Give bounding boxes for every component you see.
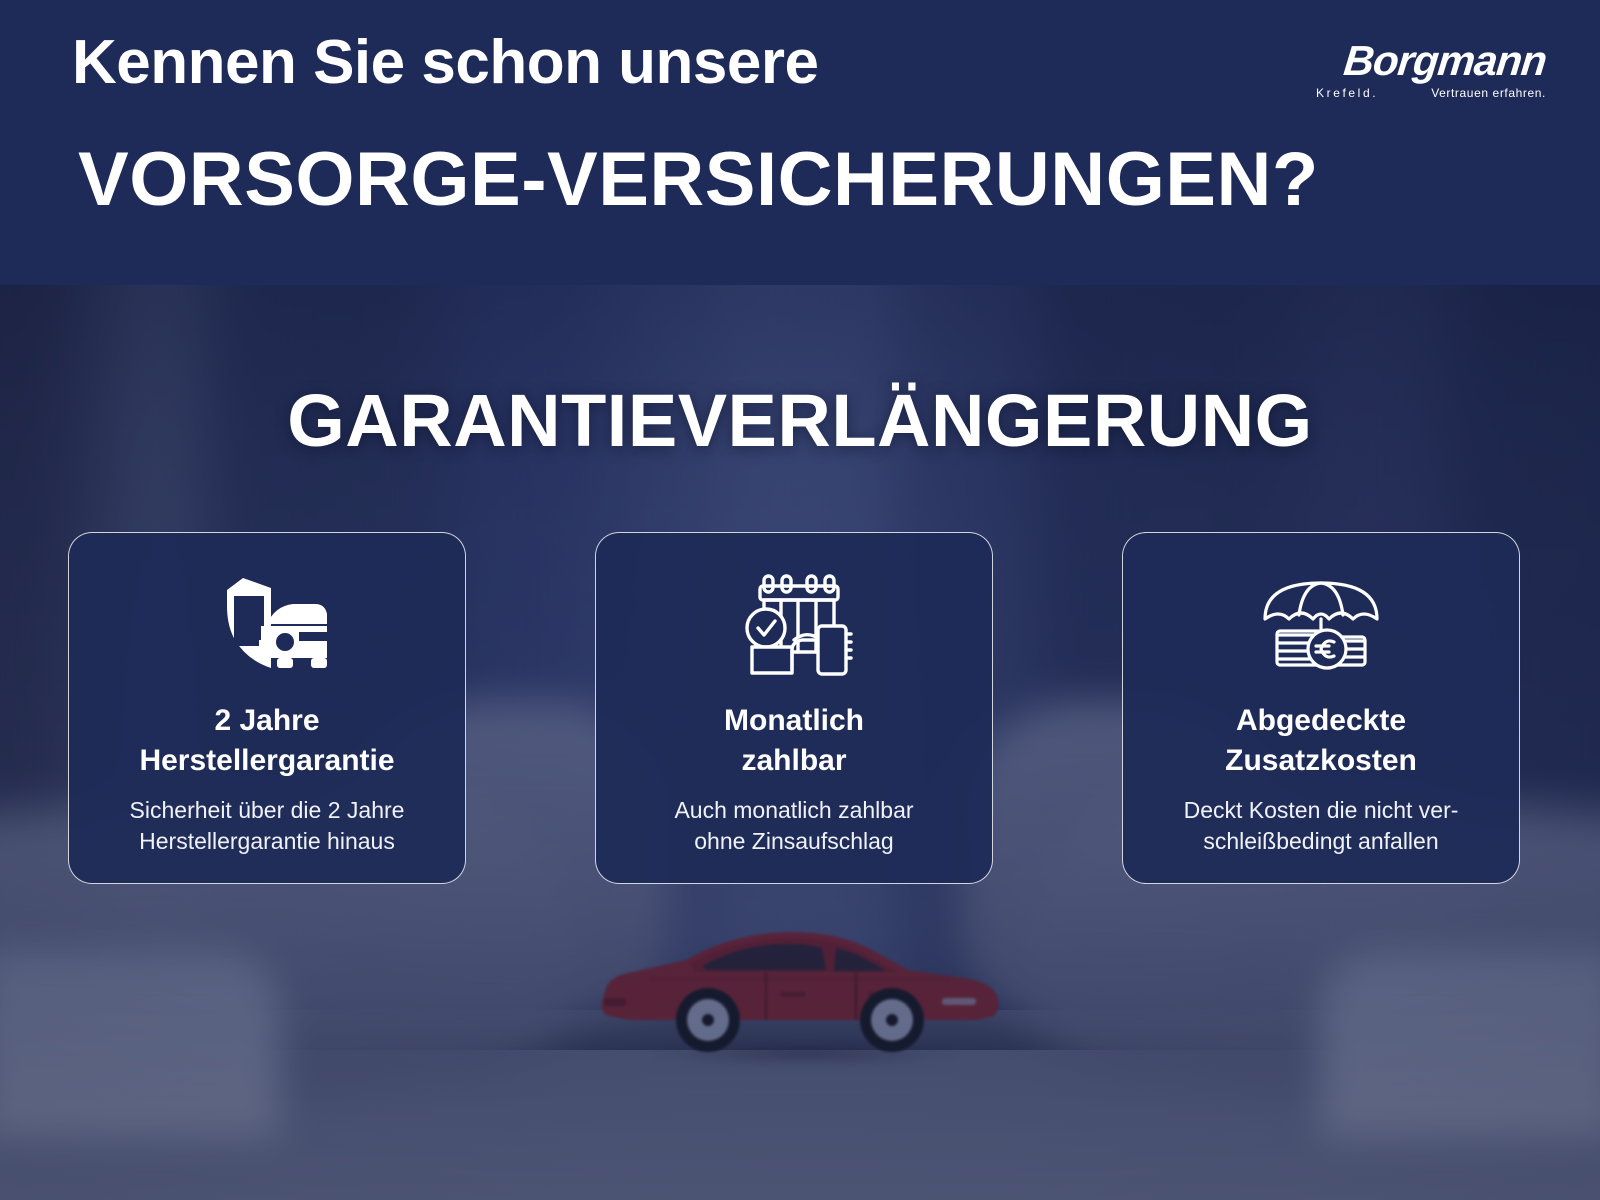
feature-card-zusatzkosten[interactable]: Abgedeckte Zusatzkosten Deckt Kosten die…: [1122, 532, 1520, 884]
header-band: Kennen Sie schon unsere VORSORGE-VERSICH…: [0, 0, 1600, 285]
umbrella-euro-coins-icon: [1259, 567, 1383, 685]
shield-car-icon: [203, 567, 331, 685]
feature-card-title: 2 Jahre Herstellergarantie: [139, 701, 394, 781]
header-line-1: Kennen Sie schon unsere: [72, 30, 819, 95]
brand-logo[interactable]: Borgmann Krefeld. Vertrauen erfahren.: [1310, 40, 1546, 106]
insurance-promo-banner: Kennen Sie schon unsere VORSORGE-VERSICH…: [0, 0, 1600, 1200]
feature-card-herstellergarantie[interactable]: 2 Jahre Herstellergarantie Sicherheit üb…: [68, 532, 466, 884]
logo-wordmark: Borgmann: [1308, 40, 1548, 82]
feature-card-title: Monatlich zahlbar: [724, 701, 864, 781]
main-headline: GARANTIEVERLÄNGERUNG: [0, 378, 1600, 463]
calendar-check-hand-payment-icon: [734, 567, 854, 685]
feature-card-list: 2 Jahre Herstellergarantie Sicherheit üb…: [68, 532, 1520, 884]
feature-card-description: Deckt Kosten die nicht ver- schleißbedin…: [1184, 795, 1459, 856]
feature-card-description: Sicherheit über die 2 Jahre Herstellerga…: [130, 795, 405, 856]
feature-card-monatlich-zahlbar[interactable]: Monatlich zahlbar Auch monatlich zahlbar…: [595, 532, 993, 884]
logo-tagline-city: Krefeld.: [1316, 86, 1378, 100]
feature-card-description: Auch monatlich zahlbar ohne Zinsaufschla…: [674, 795, 913, 856]
feature-card-title: Abgedeckte Zusatzkosten: [1225, 701, 1417, 781]
logo-tagline-slogan: Vertrauen erfahren.: [1431, 86, 1546, 100]
logo-tagline: Krefeld. Vertrauen erfahren.: [1310, 86, 1546, 100]
header-line-2: VORSORGE-VERSICHERUNGEN?: [78, 140, 1319, 220]
